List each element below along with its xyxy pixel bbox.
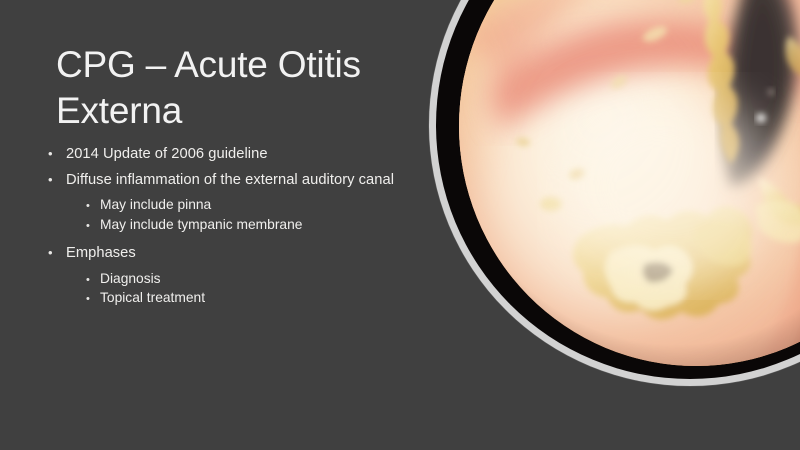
powerpoint-slide: CPG – Acute Otitis Externa • 2014 Update… <box>0 0 800 450</box>
bullet-icon: • <box>48 246 66 259</box>
list-item-label: Diagnosis <box>100 271 161 286</box>
list-item: • Diagnosis <box>48 271 418 286</box>
page-title: CPG – Acute Otitis Externa <box>56 42 386 135</box>
list-item: • May include tympanic membrane <box>48 217 418 232</box>
bullet-icon: • <box>86 294 100 305</box>
picture-circle-container <box>429 0 800 386</box>
bullet-icon: • <box>86 221 100 232</box>
list-item: • Topical treatment <box>48 290 418 305</box>
bullet-icon: • <box>86 201 100 212</box>
bullet-list: • 2014 Update of 2006 guideline • Diffus… <box>48 146 418 310</box>
list-item: • 2014 Update of 2006 guideline <box>48 146 418 162</box>
bullet-icon: • <box>48 147 66 160</box>
list-item-label: Emphases <box>66 245 136 261</box>
list-item: • May include pinna <box>48 197 418 212</box>
list-item-label: Topical treatment <box>100 290 205 305</box>
list-item-label: Diffuse inflammation of the external aud… <box>66 172 394 188</box>
list-item-label: May include tympanic membrane <box>100 217 302 232</box>
list-spacer <box>48 236 418 245</box>
bullet-icon: • <box>86 275 100 286</box>
list-item-label: May include pinna <box>100 197 211 212</box>
list-item: • Diffuse inflammation of the external a… <box>48 172 418 188</box>
list-item: • Emphases <box>48 245 418 261</box>
list-item-label: 2014 Update of 2006 guideline <box>66 146 268 162</box>
bullet-icon: • <box>48 173 66 186</box>
